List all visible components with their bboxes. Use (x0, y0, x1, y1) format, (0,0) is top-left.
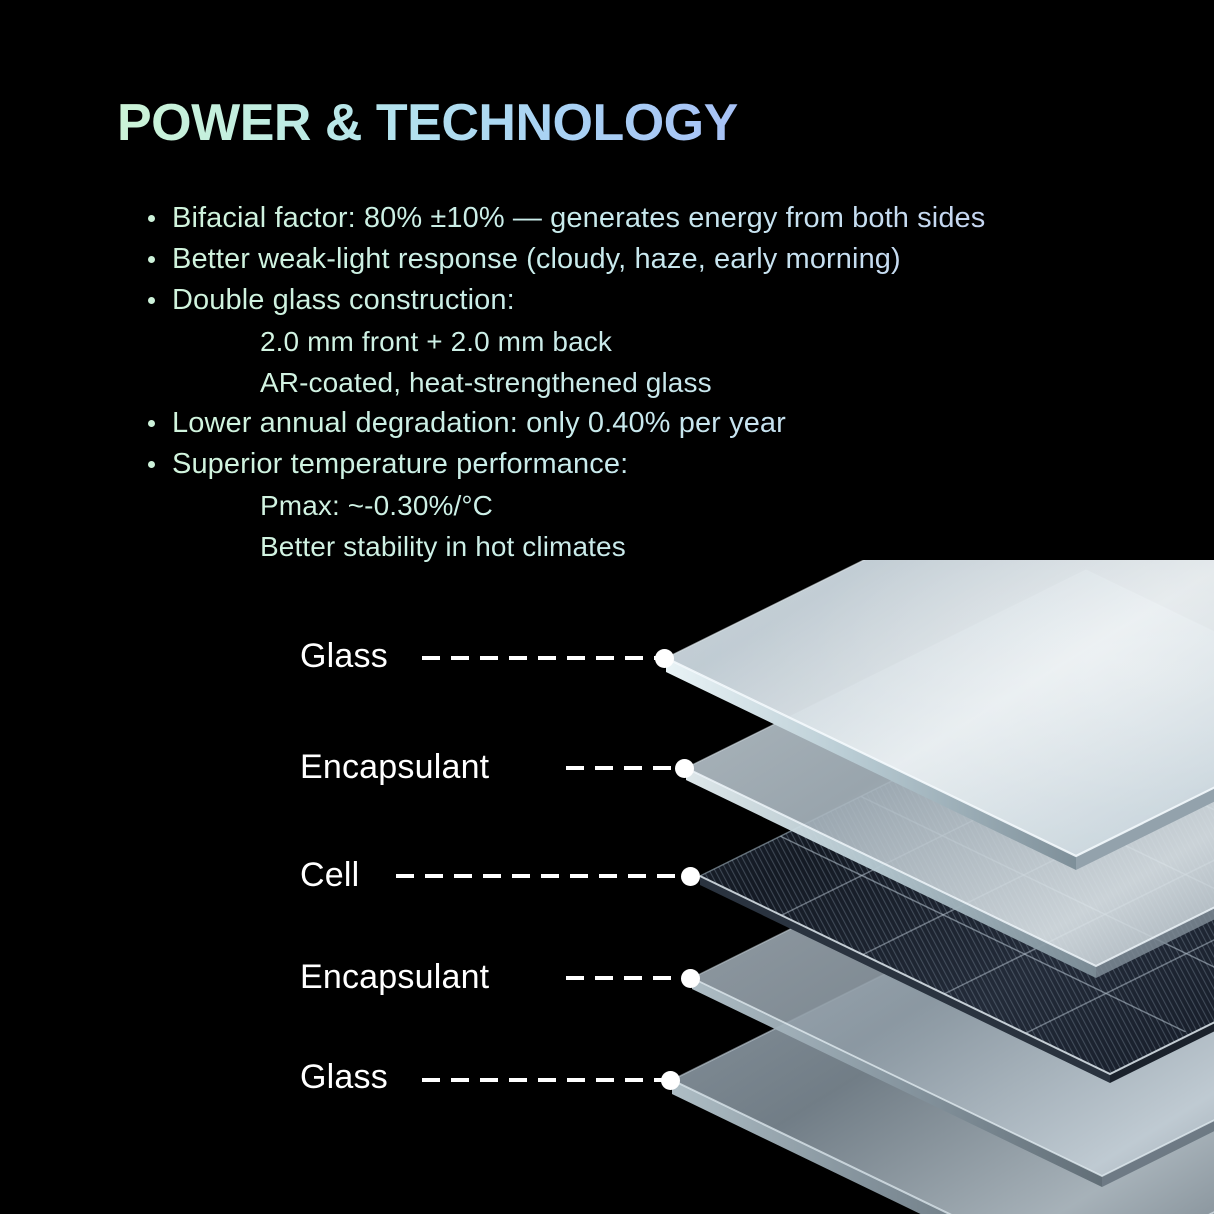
leader-line-glass-bottom (422, 1078, 670, 1082)
leader-label-glass-top: Glass (300, 639, 388, 673)
bullet-text: Superior temperature performance: (172, 448, 628, 480)
bullet-text: Better weak-light response (cloudy, haze… (172, 243, 901, 275)
leader-line-cell (396, 874, 690, 878)
bullet-item: Better weak-light response (cloudy, haze… (145, 239, 1145, 280)
leader-dot-encapsulant-upper (675, 759, 694, 778)
leader-line-glass-top (422, 656, 664, 660)
bullet-dot-icon (148, 420, 155, 427)
page-title: POWER & TECHNOLOGY (117, 94, 738, 152)
bullet-item: Double glass construction: (145, 280, 1145, 321)
bullet-text: Double glass construction: (172, 284, 515, 316)
leader-line-encapsulant-lower (566, 976, 690, 980)
bullet-subitem: 2.0 mm front + 2.0 mm back (145, 321, 1145, 362)
bullet-dot-icon (148, 215, 155, 222)
bullet-text: Bifacial factor: 80% ±10% — generates en… (172, 202, 985, 234)
feature-bullet-list: Bifacial factor: 80% ±10% — generates en… (145, 198, 1145, 567)
leader-label-glass-bottom: Glass (300, 1060, 388, 1094)
bullet-item: Superior temperature performance: (145, 444, 1145, 485)
bullet-text: Lower annual degradation: only 0.40% per… (172, 407, 786, 439)
leader-dot-glass-bottom (661, 1071, 680, 1090)
leader-label-encapsulant-lower: Encapsulant (300, 960, 489, 994)
bullet-subitem: AR-coated, heat-strengthened glass (145, 362, 1145, 403)
bullet-subitem: Better stability in hot climates (145, 526, 1145, 567)
bullet-subitem: Pmax: ~-0.30%/°C (145, 485, 1145, 526)
leader-line-encapsulant-upper (566, 766, 684, 770)
leader-dot-encapsulant-lower (681, 969, 700, 988)
bullet-item: Bifacial factor: 80% ±10% — generates en… (145, 198, 1145, 239)
bullet-dot-icon (148, 297, 155, 304)
leader-label-cell: Cell (300, 858, 359, 892)
bullet-dot-icon (148, 256, 155, 263)
leader-dot-cell (681, 867, 700, 886)
bullet-item: Lower annual degradation: only 0.40% per… (145, 403, 1145, 444)
leader-dot-glass-top (655, 649, 674, 668)
bullet-dot-icon (148, 461, 155, 468)
leader-label-encapsulant-upper: Encapsulant (300, 750, 489, 784)
